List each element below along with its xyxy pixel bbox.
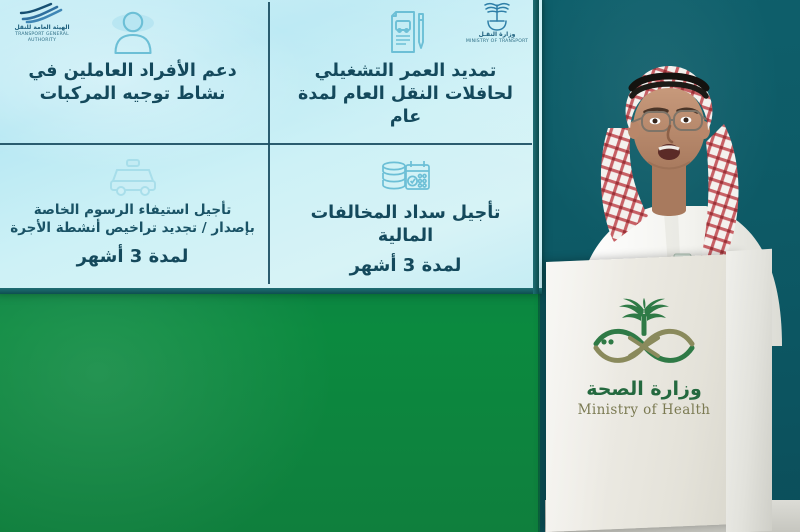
screen-bezel-right [533,0,539,294]
tga-logo-english: TRANSPORT GENERAL AUTHORITY [5,32,79,44]
slide-card-defer-fines: تأجيل سداد المخالفات المالية لمدة 3 أشهر [269,144,542,292]
transport-general-authority-logo: الهيئة العامة للنقل TRANSPORT GENERAL AU… [5,2,79,48]
slide-card-line1: تأجيل سداد المخالفات المالية [283,202,528,248]
slide-card-line2: لحافلات النقل العام لمدة عام [283,83,528,129]
podium: وزارة الصحة Ministry of Health [546,254,742,532]
ministry-of-transport-logo: وزارة النقـل MINISTRY OF TRANSPORT [462,1,532,53]
slide-card-duration: لمدة 3 أشهر [350,254,462,277]
taxi-icon [107,152,159,202]
mot-logo-arabic: وزارة النقـل [462,31,532,39]
ministry-of-health-logo: وزارة الصحة Ministry of Health [546,298,742,418]
press-conference-scene: دعم الأفراد العاملين في نشاط توجيه المرك… [0,0,800,532]
slide-card-line2: بإصدار / تجديد تراخيص أنشطة الأجرة [10,220,255,238]
moh-logo-english: Ministry of Health [578,402,711,418]
slide-card-duration: لمدة 3 أشهر [77,245,189,268]
grid-divider-horizontal [0,143,532,145]
thobe-sleeve-drape [726,249,772,532]
slide-card-line1: تأجيل استيفاء الرسوم الخاصة [34,202,232,220]
coins-calendar-icon [379,152,433,202]
screen-bezel-bottom [0,288,542,294]
slide-card-line2: نشاط توجيه المركبات [40,83,226,106]
tga-logo-arabic: الهيئة العامة للنقل [5,24,79,32]
slide-card-line1: دعم الأفراد العاملين في [28,60,236,83]
slide-card-grid: دعم الأفراد العاملين في نشاط توجيه المرك… [0,0,542,292]
person-icon [111,4,155,60]
mot-logo-english: MINISTRY OF TRANSPORT [462,39,532,45]
slide-card-taxi-licence-fees: تأجيل استيفاء الرسوم الخاصة بإصدار / تجد… [0,144,269,292]
moh-logo-arabic: وزارة الصحة [586,378,702,400]
presentation-screen: دعم الأفراد العاملين في نشاط توجيه المرك… [0,0,542,292]
document-vehicle-pen-icon [382,4,430,60]
slide-card-line1: تمديد العمر التشغيلي [315,60,497,83]
